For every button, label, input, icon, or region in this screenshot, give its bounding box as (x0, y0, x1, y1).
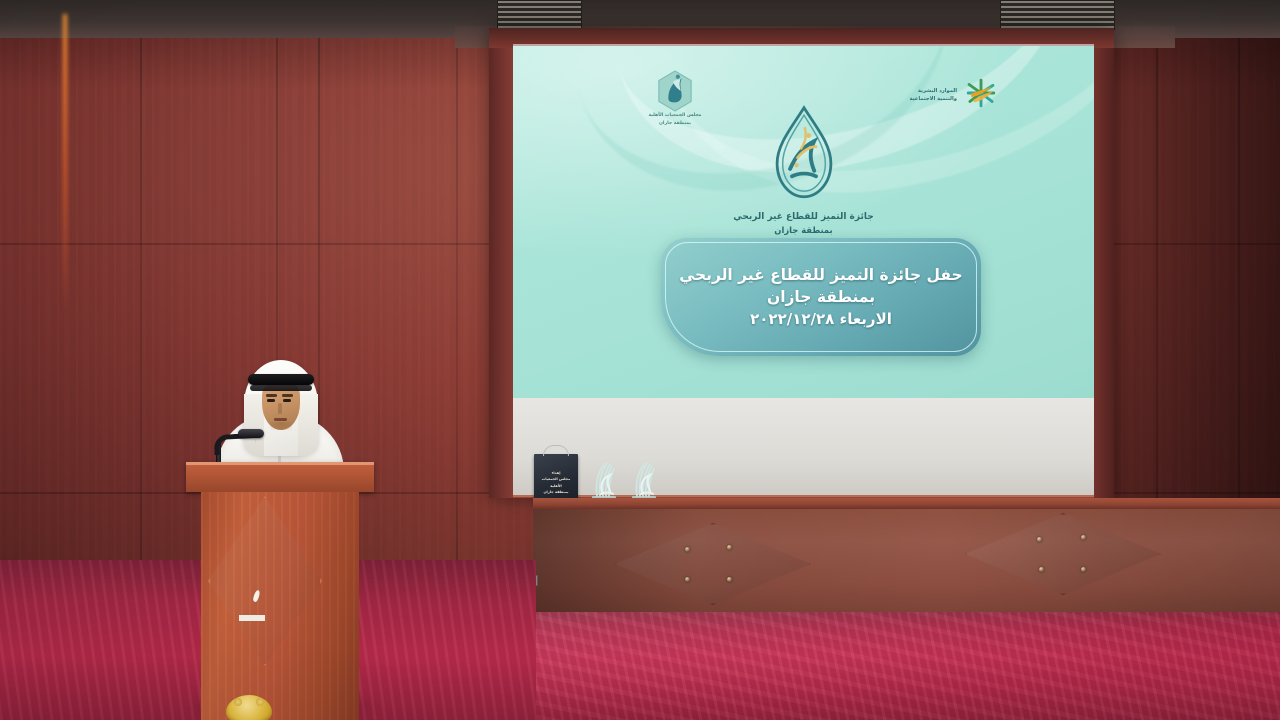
bag-text-line2: مجلس الجمعيات الأهلية (538, 476, 574, 489)
screen-inner-area: مجلس الجمعيات الأهلية بمنطقة جازان الموا… (513, 46, 1094, 498)
stage-front (533, 498, 1280, 630)
podium-diamond-inlay (208, 496, 322, 666)
award-caption-line2: بمنطقة جازان (513, 225, 1094, 235)
award-caption-line1: جائزة التميز للقطاع غير الربحي (513, 212, 1094, 222)
nose (278, 403, 282, 414)
slide-headline-inner: حفل جائزة التميز للقطاع غير الربحي بمنطق… (665, 242, 977, 352)
eye-left (267, 399, 275, 402)
cove-light-vertical (63, 14, 67, 314)
igal-cord (250, 385, 312, 391)
podium-top-desk (186, 462, 374, 492)
mouth (274, 418, 287, 421)
mhrsd-caption-line1: الموارد البشرية (910, 87, 957, 95)
screen-recess: مجلس الجمعيات الأهلية بمنطقة جازان الموا… (489, 28, 1114, 498)
bag-text: إهداء مجلس الجمعيات الأهلية بمنطقة جازان (538, 470, 574, 496)
headline-line-1: حفل جائزة التميز للقطاع غير الربحي (679, 266, 962, 284)
hvac-vent-icon (1000, 0, 1115, 30)
stage-top-edge (533, 498, 1280, 509)
headline-date: الاربعاء ٢٠٢٢/١٢/٢٨ (750, 310, 892, 328)
award-calligraphy-flame-icon (513, 104, 1094, 210)
slide-headline-panel: حفل جائزة التميز للقطاع غير الربحي بمنطق… (661, 238, 981, 356)
ghutra-fold-right (298, 394, 318, 456)
headline-line-2: بمنطقة جازان (767, 288, 875, 306)
eyebrow-left (266, 394, 277, 397)
award-logo: جائزة التميز للقطاع غير الربحي بمنطقة جا… (513, 104, 1094, 235)
scene-root: مجلس الجمعيات الأهلية بمنطقة جازان الموا… (0, 0, 1280, 720)
chin-shading (270, 422, 292, 430)
projected-slide: مجلس الجمعيات الأهلية بمنطقة جازان الموا… (513, 46, 1094, 398)
stage-shading (533, 509, 1280, 617)
mhrsd-caption-line2: والتنمية الاجتماعية (910, 95, 957, 103)
hvac-vent-icon (497, 0, 582, 30)
mic-capsule (238, 429, 264, 438)
podium-top-highlight (186, 462, 374, 465)
bag-text-line3: بمنطقة جازان (538, 489, 574, 495)
stage-panel (533, 509, 1280, 617)
eyebrow-right (282, 394, 293, 397)
eye-right (283, 399, 291, 402)
podium-label-strip (239, 615, 265, 621)
bag-handle (543, 445, 569, 456)
igal-cord (248, 374, 314, 385)
mhrsd-caption: الموارد البشرية والتنمية الاجتماعية (910, 87, 957, 103)
speaker-podium (186, 462, 374, 720)
